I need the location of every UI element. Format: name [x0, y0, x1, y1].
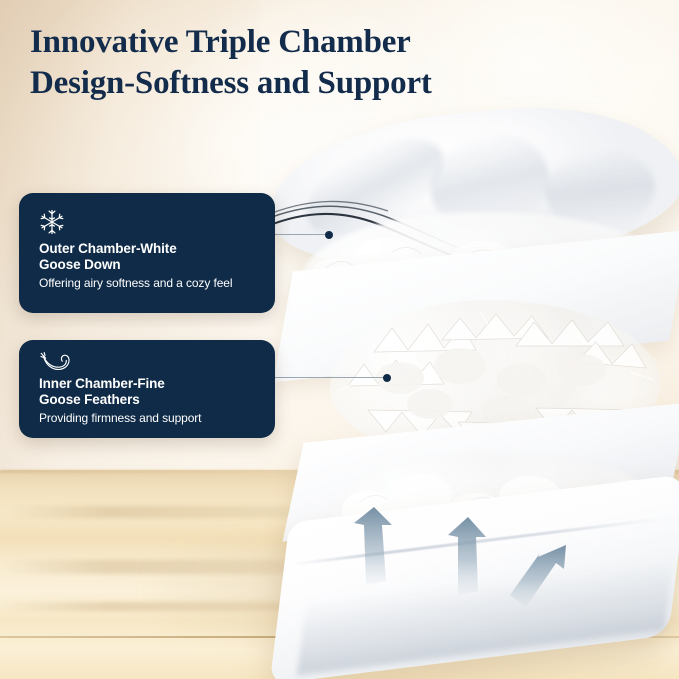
- feature-card-title-line-1: Outer Chamber-White: [39, 241, 177, 256]
- feature-card-title-line-1: Inner Chamber-Fine: [39, 376, 165, 391]
- feature-card-inner-chamber[interactable]: Inner Chamber-Fine Goose Feathers Provid…: [19, 340, 275, 438]
- feature-card-subtitle: Offering airy softness and a cozy feel: [39, 275, 257, 291]
- feature-card-title-line-2: Goose Down: [39, 257, 121, 272]
- feature-card-title-line-2: Goose Feathers: [39, 392, 140, 407]
- page-title: Innovative Triple Chamber Design-Softnes…: [30, 22, 590, 104]
- connector-outer-chamber: [275, 234, 328, 235]
- page-title-line-1: Innovative Triple Chamber: [30, 22, 590, 63]
- feather-icon: [39, 350, 73, 374]
- loft-arrow-center: [448, 517, 486, 595]
- feature-card-title: Outer Chamber-White Goose Down: [39, 241, 257, 273]
- connector-dot-inner-chamber: [383, 374, 391, 382]
- loft-arrow-left: [354, 507, 392, 585]
- feature-card-title: Inner Chamber-Fine Goose Feathers: [39, 376, 257, 408]
- snowflake-icon: [39, 209, 65, 235]
- product-infographic: Innovative Triple Chamber Design-Softnes…: [0, 0, 679, 679]
- loft-arrows-group: [330, 505, 630, 635]
- connector-dot-outer-chamber: [325, 231, 333, 239]
- page-title-line-2: Design-Softness and Support: [30, 63, 590, 104]
- connector-inner-chamber: [275, 377, 386, 378]
- loft-arrow-right: [510, 545, 566, 607]
- feature-card-subtitle: Providing firmness and support: [39, 410, 257, 426]
- feature-card-outer-chamber[interactable]: Outer Chamber-White Goose Down Offering …: [19, 193, 275, 313]
